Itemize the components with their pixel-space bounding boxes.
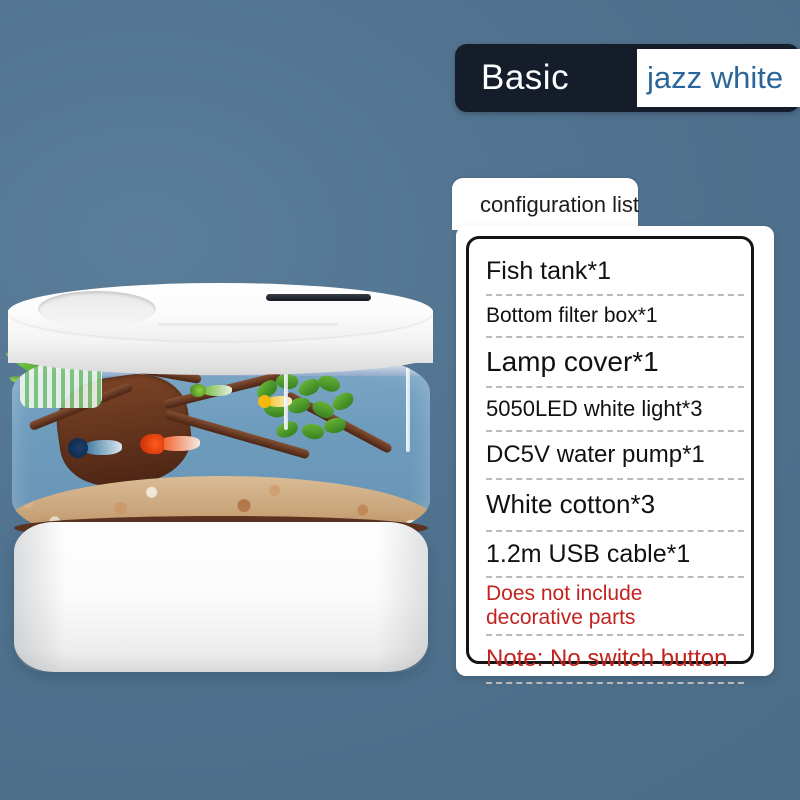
lid-seam bbox=[158, 323, 338, 326]
tank-lid bbox=[8, 283, 433, 375]
lid-vent-slot bbox=[266, 294, 371, 301]
base-shadow-right bbox=[376, 522, 428, 672]
configuration-item-list: Fish tank*1 Bottom filter box*1 Lamp cov… bbox=[486, 248, 744, 684]
variant-badge: Basic jazz white bbox=[455, 44, 800, 112]
tank-glass bbox=[12, 356, 430, 536]
base-shadow-left bbox=[14, 522, 66, 672]
configuration-tab-label: configuration list bbox=[480, 190, 639, 220]
config-item: Fish tank*1 bbox=[486, 248, 744, 296]
fish-green-guppy bbox=[190, 384, 232, 398]
config-item: Lamp cover*1 bbox=[486, 338, 744, 388]
config-item: White cotton*3 bbox=[486, 480, 744, 532]
badge-primary-label: Basic bbox=[481, 44, 569, 112]
config-item: DC5V water pump*1 bbox=[486, 432, 744, 480]
aquatic-plant bbox=[250, 372, 360, 450]
aquarium-product bbox=[0, 150, 440, 690]
badge-variant-label: jazz white bbox=[647, 49, 783, 107]
fish-orange-guppy bbox=[140, 434, 202, 454]
config-item-note: Does not include decorative parts bbox=[486, 578, 744, 636]
product-image-canvas: Basic jazz white configuration list Fish… bbox=[0, 0, 800, 800]
fish-blue-guppy bbox=[68, 440, 122, 457]
config-item-note: Note: No switch button bbox=[486, 636, 744, 684]
config-item: 1.2m USB cable*1 bbox=[486, 532, 744, 578]
config-item: 5050LED white light*3 bbox=[486, 388, 744, 432]
tank-base bbox=[14, 522, 428, 672]
config-item: Bottom filter box*1 bbox=[486, 296, 744, 338]
lid-plant-hole bbox=[38, 291, 156, 327]
